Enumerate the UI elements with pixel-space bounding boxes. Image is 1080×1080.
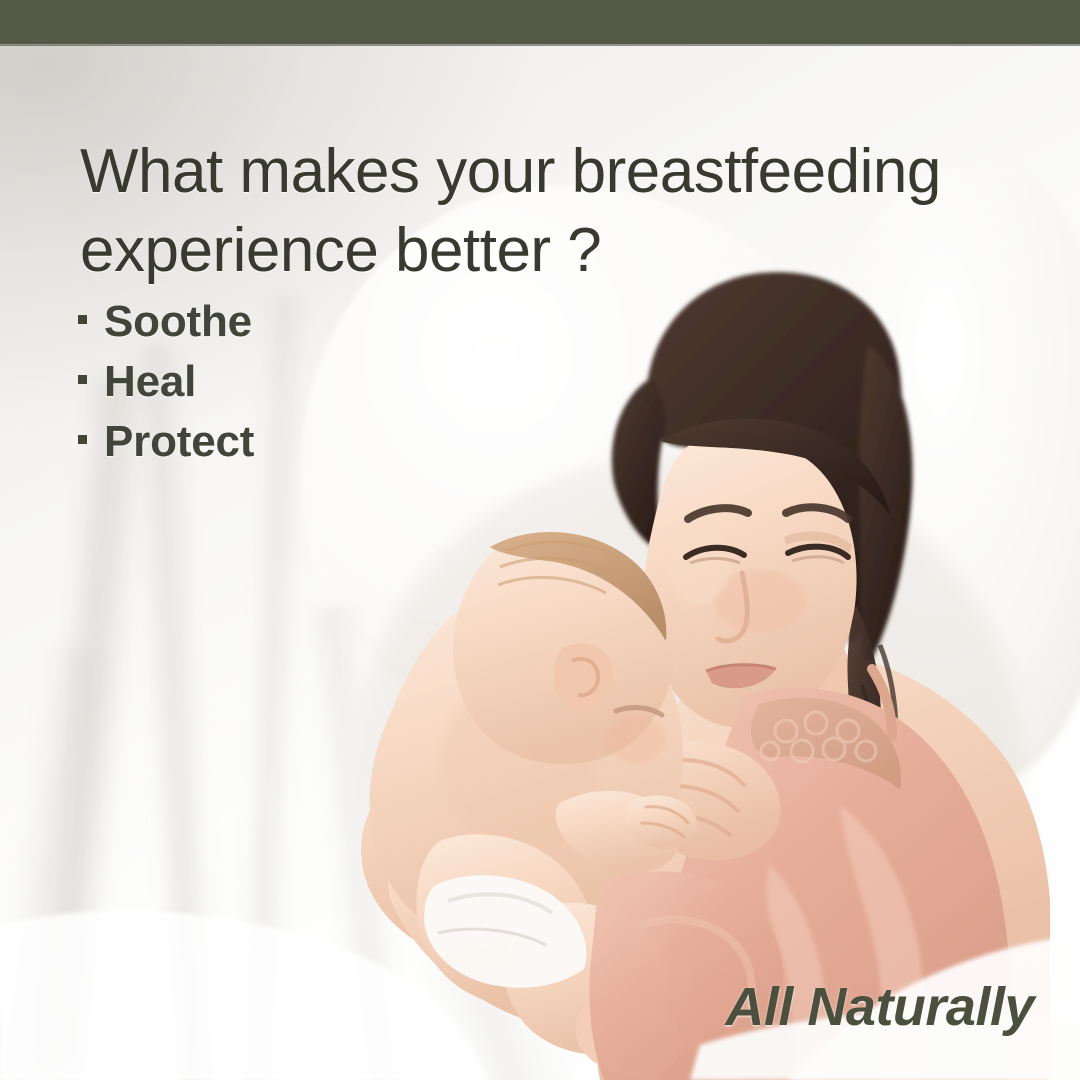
square-bullet-icon	[78, 435, 87, 444]
benefit-label: Heal	[104, 352, 196, 412]
page-title: What makes your breastfeeding experience…	[80, 132, 1020, 291]
promo-graphic-canvas: What makes your breastfeeding experience…	[0, 0, 1080, 1080]
list-item: Protect	[78, 412, 254, 472]
square-bullet-icon	[78, 315, 87, 324]
top-accent-bar	[0, 0, 1080, 44]
square-bullet-icon	[78, 375, 87, 384]
list-item: Heal	[78, 352, 254, 412]
top-accent-bar-underline	[0, 44, 1080, 46]
benefits-list: Soothe Heal Protect	[78, 292, 254, 471]
benefit-label: Protect	[104, 412, 254, 472]
benefit-label: Soothe	[104, 292, 252, 352]
tagline: All Naturally	[725, 976, 1034, 1038]
list-item: Soothe	[78, 292, 254, 352]
